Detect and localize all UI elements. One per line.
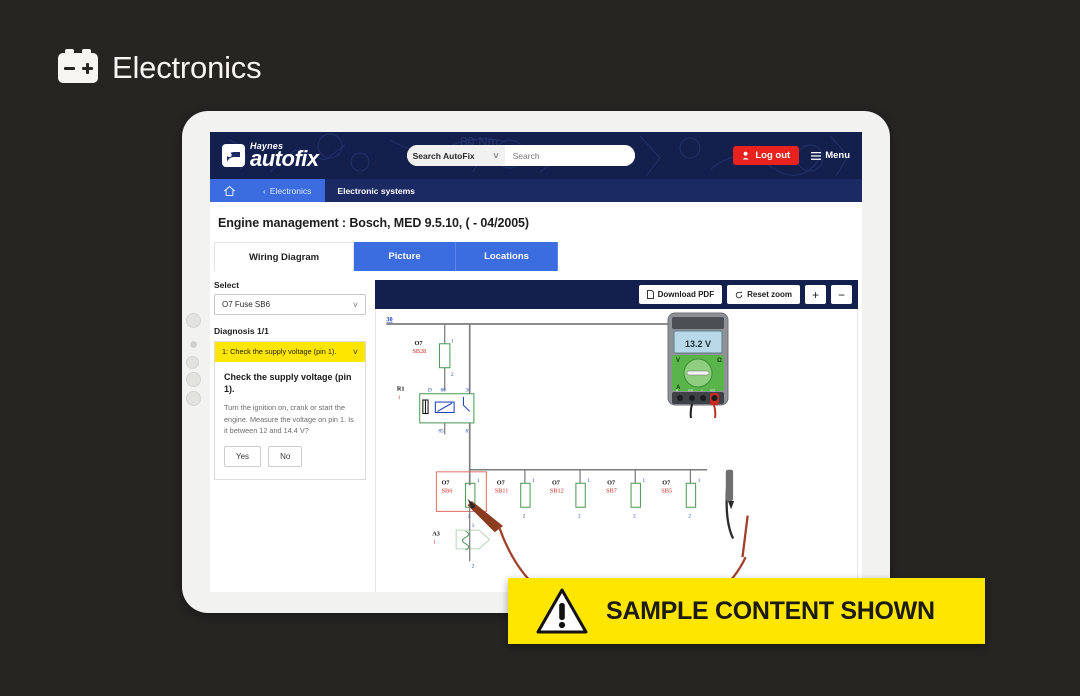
search-bar[interactable]: Search AutoFix ˅ [407, 145, 635, 166]
breadcrumb-back-label: Electronics [270, 186, 312, 196]
workspace: Select O7 Fuse SB6 ˅ Diagnosis 1/1 1: Ch… [210, 271, 862, 592]
breadcrumb-item-current: Electronic systems [325, 179, 426, 202]
svg-text:1: 1 [477, 478, 480, 484]
tablet-indicator-dot [190, 341, 197, 348]
svg-text:VΩ: VΩ [710, 389, 715, 393]
tablet-screen: 60 Nm Haynes autofix Search AutoFix ˅ [210, 132, 862, 592]
hamburger-icon [811, 152, 821, 160]
breadcrumb-current-label: Electronic systems [337, 186, 414, 196]
multimeter-reading: 13.2 V [685, 339, 711, 349]
svg-text:1: 1 [433, 540, 436, 546]
chevron-up-icon: ˅ [353, 347, 358, 357]
app-logo[interactable]: Haynes autofix [222, 143, 319, 168]
svg-text:1: 1 [643, 478, 646, 484]
brand-header: Electronics [58, 50, 261, 86]
svg-text:1: 1 [472, 523, 475, 529]
module-title: Engine management : Bosch, MED 9.5.10, (… [210, 202, 862, 242]
search-scope-select[interactable]: Search AutoFix ˅ [407, 145, 505, 166]
svg-text:86: 86 [441, 388, 447, 394]
svg-text:SB7: SB7 [606, 488, 617, 495]
user-icon [742, 151, 751, 160]
svg-text:2: 2 [523, 514, 526, 520]
svg-text:2: 2 [472, 564, 475, 570]
answer-yes-button[interactable]: Yes [224, 446, 261, 467]
tab-wiring-diagram[interactable]: Wiring Diagram [214, 242, 354, 271]
svg-text:85: 85 [438, 428, 444, 434]
search-input[interactable] [505, 145, 635, 166]
sample-content-banner: SAMPLE CONTENT SHOWN [508, 578, 985, 644]
tablet-button-volume-up[interactable] [186, 356, 199, 369]
chevron-down-icon: ˅ [493, 151, 498, 161]
svg-text:2: 2 [633, 514, 636, 520]
svg-text:O7: O7 [497, 479, 505, 486]
diagnosis-step-body: Check the supply voltage (pin 1). Turn t… [215, 362, 365, 479]
breadcrumb: ‹ Electronics Electronic systems [210, 179, 862, 202]
svg-text:mA: mA [688, 389, 694, 393]
breadcrumb-item-electronics[interactable]: ‹ Electronics [249, 179, 325, 202]
svg-text:SB5: SB5 [661, 488, 672, 495]
sample-banner-label: SAMPLE CONTENT SHOWN [606, 597, 935, 626]
haynes-logo-icon [222, 144, 245, 167]
home-icon [224, 186, 235, 196]
zoom-out-button[interactable]: − [831, 285, 852, 304]
component-select[interactable]: O7 Fuse SB6 ˅ [214, 294, 366, 315]
root-canvas: Electronics [0, 0, 1080, 696]
tablet-button-volume-down[interactable] [186, 372, 201, 387]
svg-text:O7: O7 [415, 340, 423, 347]
app-header-actions: Log out Menu [733, 146, 850, 165]
svg-text:SB11: SB11 [495, 488, 509, 495]
tab-locations[interactable]: Locations [456, 242, 558, 271]
menu-button[interactable]: Menu [811, 150, 850, 161]
page-content: Engine management : Bosch, MED 9.5.10, (… [210, 202, 862, 592]
select-label: Select [214, 280, 366, 290]
svg-text:SB6: SB6 [442, 488, 453, 495]
download-pdf-label: Download PDF [658, 290, 714, 299]
chevron-left-icon: ‹ [263, 186, 266, 196]
svg-text:1: 1 [698, 478, 701, 484]
svg-text:2: 2 [578, 514, 581, 520]
breadcrumb-home[interactable] [210, 179, 249, 202]
multimeter-svg: 13.2 V V Ω A [667, 312, 729, 418]
diagnosis-step-header[interactable]: 1: Check the supply voltage (pin 1). ˅ [215, 342, 365, 362]
battery-icon [58, 53, 98, 83]
fuse-SB7: O7 SB7 1 2 [606, 470, 645, 520]
fuse-SB12: O7 SB12 1 2 [550, 470, 590, 520]
refresh-icon [735, 291, 743, 299]
logo-wordmark: Haynes autofix [250, 143, 319, 168]
logout-label: Log out [755, 150, 790, 161]
svg-text:SB28: SB28 [412, 348, 426, 355]
diagnosis-step-text: Turn the ignition on, crank or start the… [224, 402, 356, 436]
tab-picture[interactable]: Picture [354, 242, 456, 271]
svg-text:O7: O7 [442, 479, 450, 486]
app-header: 60 Nm Haynes autofix Search AutoFix ˅ [210, 132, 862, 179]
diagnosis-step-header-label: 1: Check the supply voltage (pin 1). [222, 347, 336, 357]
page-title: Electronics [112, 50, 261, 86]
diagnosis-step: 1: Check the supply voltage (pin 1). ˅ C… [214, 341, 366, 480]
svg-text:1: 1 [587, 478, 590, 484]
wiring-diagram-canvas[interactable]: 30 O7 SB28 1 2 R [375, 309, 858, 592]
diagram-viewer: Download PDF Reset zoom + − [375, 280, 858, 592]
tablet-button-power[interactable] [186, 313, 201, 328]
fuse-SB5: O7 SB5 1 2 [661, 470, 700, 520]
svg-text:O7: O7 [552, 479, 560, 486]
svg-text:1: 1 [451, 339, 454, 345]
search-scope-label: Search AutoFix [413, 151, 475, 161]
diagnosis-sidebar: Select O7 Fuse SB6 ˅ Diagnosis 1/1 1: Ch… [214, 280, 366, 592]
svg-text:Ω: Ω [717, 358, 722, 364]
svg-text:D: D [428, 388, 432, 394]
wiring-diagram-svg: 30 O7 SB28 1 2 R [376, 309, 857, 592]
warning-triangle-icon [536, 588, 588, 634]
answer-no-button[interactable]: No [268, 446, 302, 467]
answer-buttons: Yes No [224, 446, 356, 467]
fuse-SB11: O7 SB11 1 2 [495, 470, 535, 520]
svg-text:2: 2 [451, 372, 454, 378]
tablet-button-extra[interactable] [186, 391, 201, 406]
bus-label: 30 [386, 316, 392, 323]
multimeter: 13.2 V V Ω A [667, 312, 729, 418]
svg-text:+: + [701, 389, 703, 393]
tab-bar: Wiring Diagram Picture Locations [210, 242, 862, 271]
svg-text:1: 1 [532, 478, 535, 484]
zoom-in-button[interactable]: + [805, 285, 826, 304]
svg-text:V: V [676, 358, 680, 364]
reset-zoom-label: Reset zoom [747, 290, 792, 299]
document-icon [647, 290, 654, 299]
svg-text:2: 2 [688, 514, 691, 520]
svg-text:SB12: SB12 [550, 488, 564, 495]
fuse-row: O7 SB6 1 2 O7 SB11 [442, 470, 701, 528]
chevron-down-icon: ˅ [353, 300, 358, 310]
svg-text:A3: A3 [432, 530, 440, 537]
diagram-toolbar: Download PDF Reset zoom + − [375, 280, 858, 309]
logout-button[interactable]: Log out [733, 146, 799, 165]
spanner-icon [225, 148, 242, 162]
component-select-value: O7 Fuse SB6 [222, 300, 270, 309]
svg-text:O7: O7 [662, 479, 670, 486]
menu-label: Menu [825, 150, 850, 161]
svg-text:1: 1 [398, 395, 401, 401]
svg-text:2: 2 [468, 514, 471, 520]
reset-zoom-button[interactable]: Reset zoom [727, 285, 800, 304]
svg-text:R1: R1 [397, 386, 405, 393]
svg-text:O7: O7 [607, 479, 615, 486]
download-pdf-button[interactable]: Download PDF [639, 285, 722, 304]
diagnosis-step-title: Check the supply voltage (pin 1). [224, 371, 356, 395]
diagnosis-count: Diagnosis 1/1 [214, 326, 366, 336]
